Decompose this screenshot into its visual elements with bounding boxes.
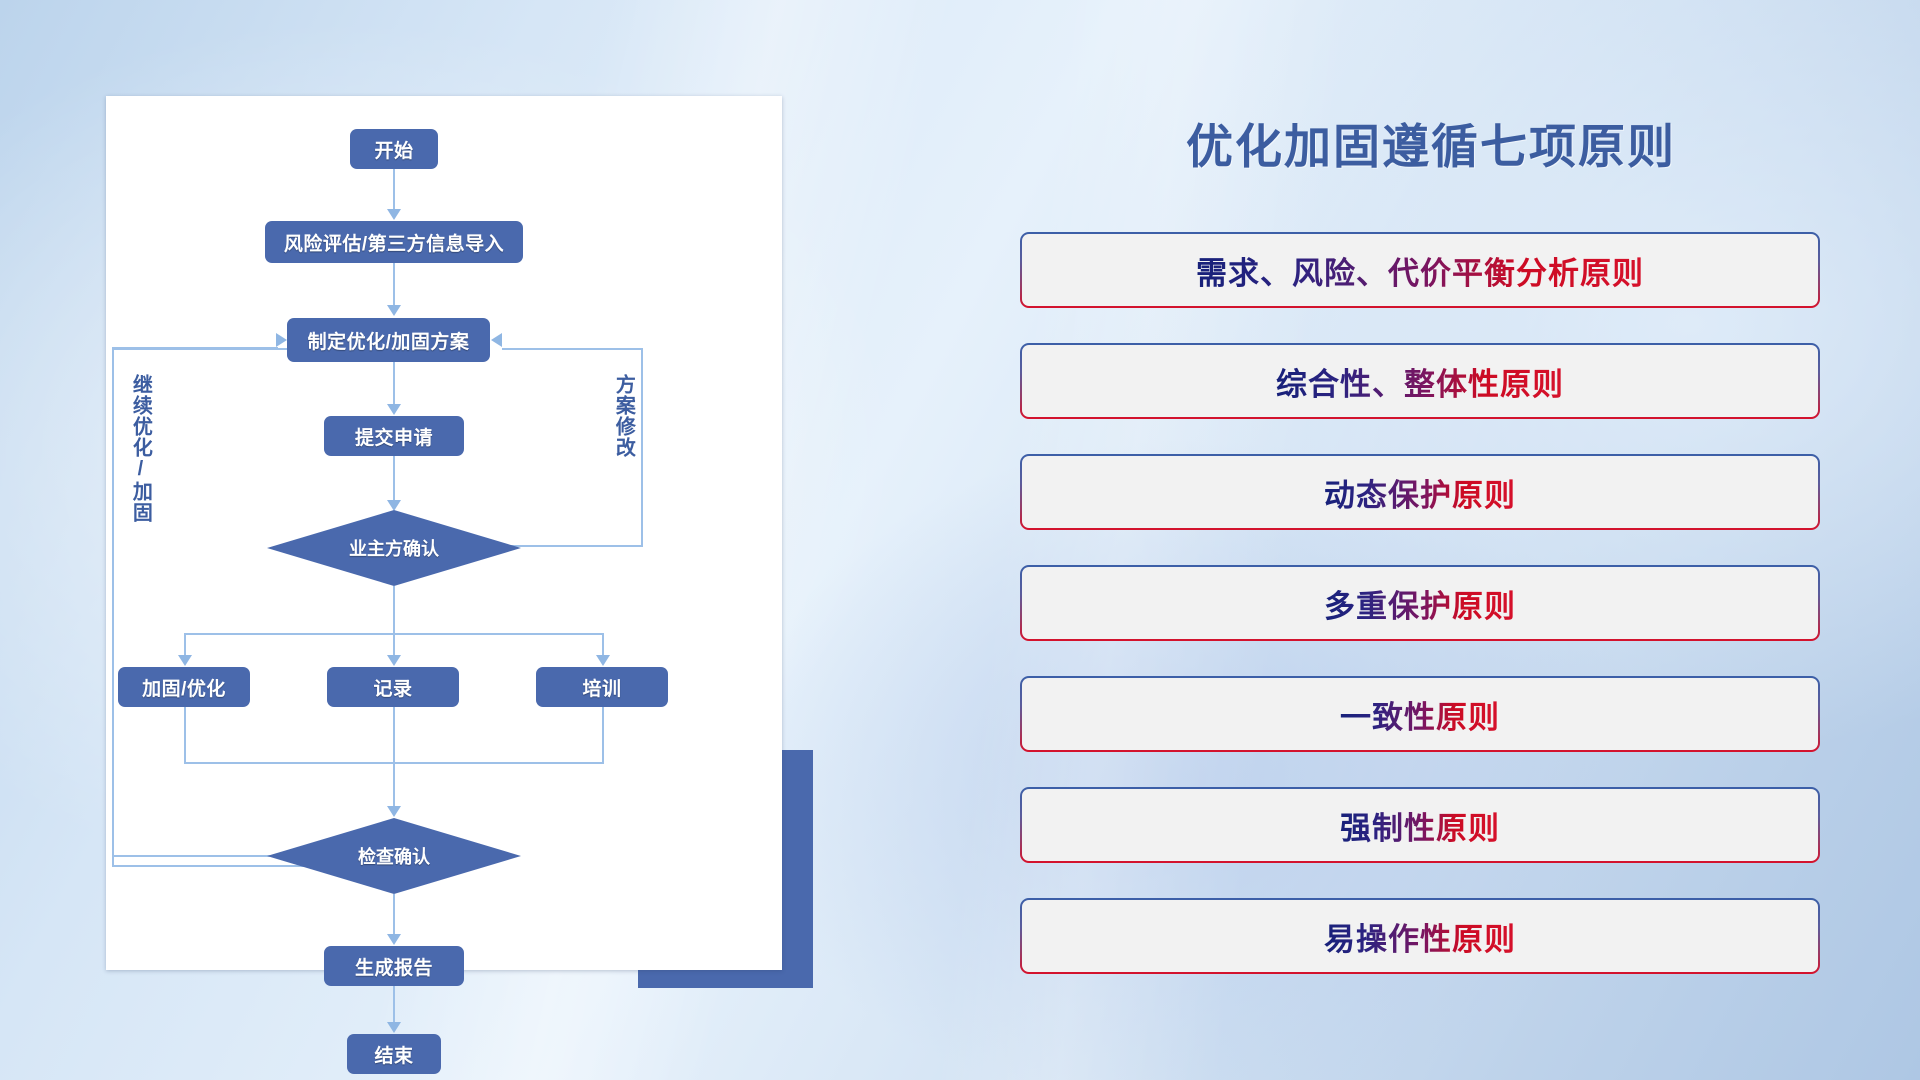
arrow-down-icon: [387, 806, 401, 817]
edge-training-down: [602, 707, 604, 764]
principle-label: 多重保护原则: [1324, 581, 1516, 626]
principle-list: 需求、风险、代价平衡分析原则 综合性、整体性原则 动态保护原则 多重保护原则: [1020, 232, 1820, 1009]
node-submit-application[interactable]: 提交申请: [324, 416, 464, 456]
principle-label: 动态保护原则: [1324, 470, 1516, 515]
principle-label: 强制性原则: [1340, 803, 1500, 848]
flowchart-canvas: 开始 风险评估/第三方信息导入 制定优化/加固方案 提交申请 业主方确认: [106, 96, 782, 970]
loop-right-vertical-line: [641, 348, 643, 546]
arrow-down-icon: [178, 655, 192, 666]
edge-plan-to-submit: [393, 362, 395, 408]
arrow-down-icon: [387, 209, 401, 220]
principle-card[interactable]: 需求、风险、代价平衡分析原则: [1020, 232, 1820, 308]
edge-inspection-to-report: [393, 894, 395, 938]
node-end[interactable]: 结束: [347, 1034, 441, 1074]
principle-label: 易操作性原则: [1324, 914, 1516, 959]
principle-card-body: 多重保护原则: [1022, 567, 1818, 639]
principles-panel: 优化加固遵循七项原则 需求、风险、代价平衡分析原则 综合性、整体性原则 动态保护…: [1020, 0, 1880, 1080]
arrow-down-icon: [387, 1022, 401, 1033]
edge-confirm-down: [393, 586, 395, 634]
flowchart-card: 开始 风险评估/第三方信息导入 制定优化/加固方案 提交申请 业主方确认: [106, 96, 782, 970]
edge-record-down: [393, 707, 395, 810]
principle-card-body: 动态保护原则: [1022, 456, 1818, 528]
edge-submit-to-confirm: [393, 456, 395, 504]
principle-card[interactable]: 强制性原则: [1020, 787, 1820, 863]
edge-reinforce-down: [184, 707, 186, 764]
arrow-down-icon: [387, 500, 401, 511]
page-title: 优化加固遵循七项原则: [1020, 108, 1842, 177]
arrow-down-icon: [596, 655, 610, 666]
arrow-down-icon: [387, 404, 401, 415]
principle-label: 一致性原则: [1340, 692, 1500, 737]
edge-start-to-risk: [393, 169, 395, 213]
node-training[interactable]: 培训: [536, 667, 668, 707]
principle-card-body: 易操作性原则: [1022, 900, 1818, 972]
node-make-plan[interactable]: 制定优化/加固方案: [287, 318, 490, 362]
loop-left-vertical-line: [112, 348, 114, 867]
arrow-down-icon: [387, 934, 401, 945]
loop-left-entry-line: [112, 347, 278, 349]
edge-label-continue-optimize: 继续优化/加固: [130, 374, 150, 523]
principle-label: 综合性、整体性原则: [1276, 359, 1564, 404]
arrow-down-icon: [387, 305, 401, 316]
arrow-left-icon: [491, 333, 502, 347]
node-generate-report[interactable]: 生成报告: [324, 946, 464, 986]
principle-card[interactable]: 多重保护原则: [1020, 565, 1820, 641]
loop-right-top-line: [502, 348, 643, 350]
node-record[interactable]: 记录: [327, 667, 459, 707]
principle-card-body: 需求、风险、代价平衡分析原则: [1022, 234, 1818, 306]
edge-risk-to-plan: [393, 263, 395, 309]
node-owner-confirm[interactable]: 业主方确认: [267, 510, 521, 586]
arrow-down-icon: [387, 655, 401, 666]
principle-label: 需求、风险、代价平衡分析原则: [1196, 248, 1644, 293]
edge-label-plan-revision: 方案修改: [613, 374, 633, 458]
loop-left-return-line: [112, 855, 270, 857]
principle-card-body: 一致性原则: [1022, 678, 1818, 750]
principle-card-body: 综合性、整体性原则: [1022, 345, 1818, 417]
node-reinforce-optimize[interactable]: 加固/优化: [118, 667, 250, 707]
slide-canvas: 开始 风险评估/第三方信息导入 制定优化/加固方案 提交申请 业主方确认: [0, 0, 1920, 1080]
principle-card[interactable]: 一致性原则: [1020, 676, 1820, 752]
node-risk-assessment[interactable]: 风险评估/第三方信息导入: [265, 221, 523, 263]
principle-card-body: 强制性原则: [1022, 789, 1818, 861]
principle-card[interactable]: 动态保护原则: [1020, 454, 1820, 530]
principle-card[interactable]: 综合性、整体性原则: [1020, 343, 1820, 419]
arrow-right-icon: [276, 333, 287, 347]
node-inspection-confirm[interactable]: 检查确认: [267, 818, 521, 894]
node-start[interactable]: 开始: [350, 129, 438, 169]
loop-right-bottom-line: [499, 545, 643, 547]
principle-card[interactable]: 易操作性原则: [1020, 898, 1820, 974]
edge-report-to-end: [393, 986, 395, 1026]
